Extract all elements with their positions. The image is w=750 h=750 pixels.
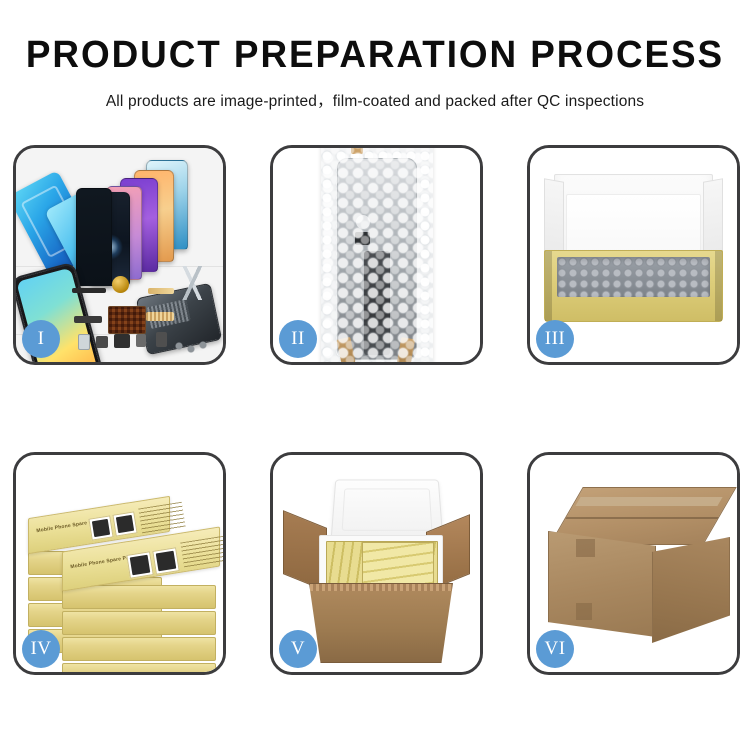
step-badge-6: VI [536,630,574,668]
shipping-carton-open [309,583,453,663]
bubble-bag-wrapper [321,148,433,362]
sealed-shipping-carton [548,487,728,637]
box-feature-list-back [138,502,186,535]
open-mailer-box [544,174,723,322]
step-panel-5: V [270,452,483,675]
box-window-3 [126,551,153,578]
step-panel-1: I [13,145,226,365]
carton-front-face [548,531,656,637]
step-numeral: I [38,328,45,350]
sensor-module [355,232,370,245]
phone-display-black-glass [76,188,112,286]
product-preparation-infographic: PRODUCT PREPARATION PROCESS All products… [0,0,750,750]
tape-tab-top [351,148,363,154]
flex-cable-3 [74,316,102,323]
flex-cable-1 [72,288,106,293]
corrugated-edge [310,584,452,591]
small-part-3 [114,334,130,348]
carton-top-seam [565,517,718,519]
bubble-wrap-fill [557,257,710,297]
step-badge-4: IV [22,630,60,668]
retail-box-stack: Mobile Phone Spare Parts Mobile Phone Sp… [24,481,213,654]
step-numeral: III [545,328,565,350]
phone-display-fan [88,158,223,273]
camera-hole [355,214,371,230]
step-badge-2: II [279,320,317,358]
small-part-5 [156,332,167,347]
box-window-2 [112,511,137,536]
box-tray [544,250,723,322]
step-numeral: VI [544,638,565,660]
carton-label-lower [576,603,592,620]
small-part-2 [96,336,108,348]
step-numeral: V [291,638,305,660]
step-panel-6: VI [527,452,740,675]
page-title: PRODUCT PREPARATION PROCESS [11,36,739,74]
small-part-1 [78,334,90,350]
tray-edge-right [715,251,722,321]
vibration-motor-part [112,276,129,293]
ic-chip-grid [108,306,146,334]
small-part-4 [136,334,146,347]
step-badge-5: V [279,630,317,668]
box-layer [62,585,216,609]
tray-edge-left [545,251,552,321]
tweezers-tool [167,266,219,300]
box-layer [62,663,216,672]
carton-sealing-tape [575,497,722,506]
step-numeral: II [291,328,305,350]
carton-label-upper [576,539,595,557]
page-subtitle: All products are image-printed，film-coat… [0,89,750,111]
header: PRODUCT PREPARATION PROCESS All products… [0,0,750,111]
box-layer [62,611,216,635]
flex-cable-4 [146,312,174,321]
step-numeral: IV [30,638,51,660]
carton-with-foam-case [283,477,470,648]
process-step-grid: I II [13,145,743,675]
packed-boxes-row-2 [362,542,434,586]
foam-case-body [319,535,443,591]
screws-group [175,340,209,354]
box-layer [62,637,216,661]
box-window-4 [152,547,179,574]
carton-side-face [652,537,730,643]
step-badge-3: III [536,320,574,358]
step-panel-3: III [527,145,740,365]
box-window-1 [88,515,113,540]
lcd-screen-assembly [337,158,417,360]
step-badge-1: I [22,320,60,358]
step-panel-2: II [270,145,483,365]
step-panel-4: Mobile Phone Spare Parts Mobile Phone Sp… [13,452,226,675]
